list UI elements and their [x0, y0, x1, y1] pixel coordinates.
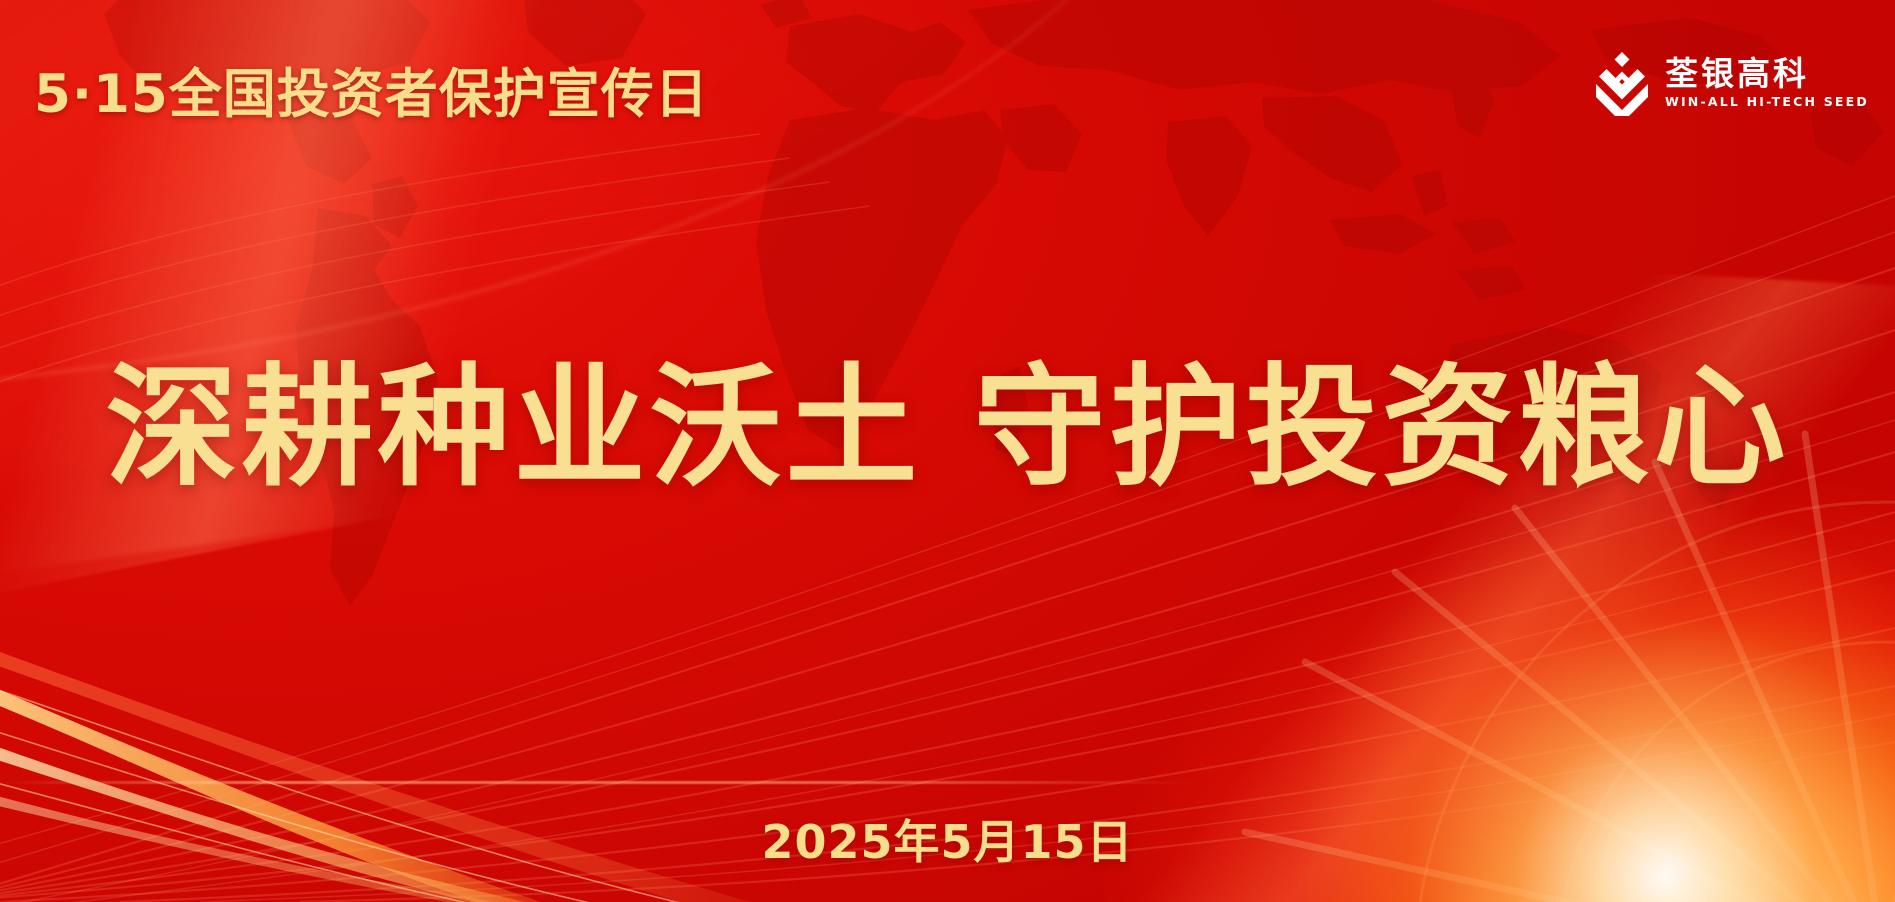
campaign-kicker: 5·15全国投资者保护宣传日: [34, 52, 709, 128]
logo-name-en: WIN-ALL HI-TECH SEED: [1665, 94, 1869, 109]
investor-protection-day-banner: 5·15全国投资者保护宣传日 荃银高科 WIN-AL: [0, 0, 1895, 902]
headline-part-left: 深耕种业沃土: [106, 351, 922, 505]
banner-content: 5·15全国投资者保护宣传日 荃银高科 WIN-AL: [0, 0, 1895, 902]
company-logo: 荃银高科 WIN-ALL HI-TECH SEED: [1593, 50, 1869, 116]
page-title: 深耕种业沃土守护投资粮心: [0, 355, 1895, 503]
event-date: 2025年5月15日: [0, 806, 1895, 872]
logo-wordmark: 荃银高科 WIN-ALL HI-TECH SEED: [1665, 57, 1869, 110]
headline-part-right: 守护投资粮心: [974, 351, 1790, 505]
logo-name-cn: 荃银高科: [1665, 57, 1869, 92]
chevron-diamond-logo-mark: [1593, 50, 1651, 116]
